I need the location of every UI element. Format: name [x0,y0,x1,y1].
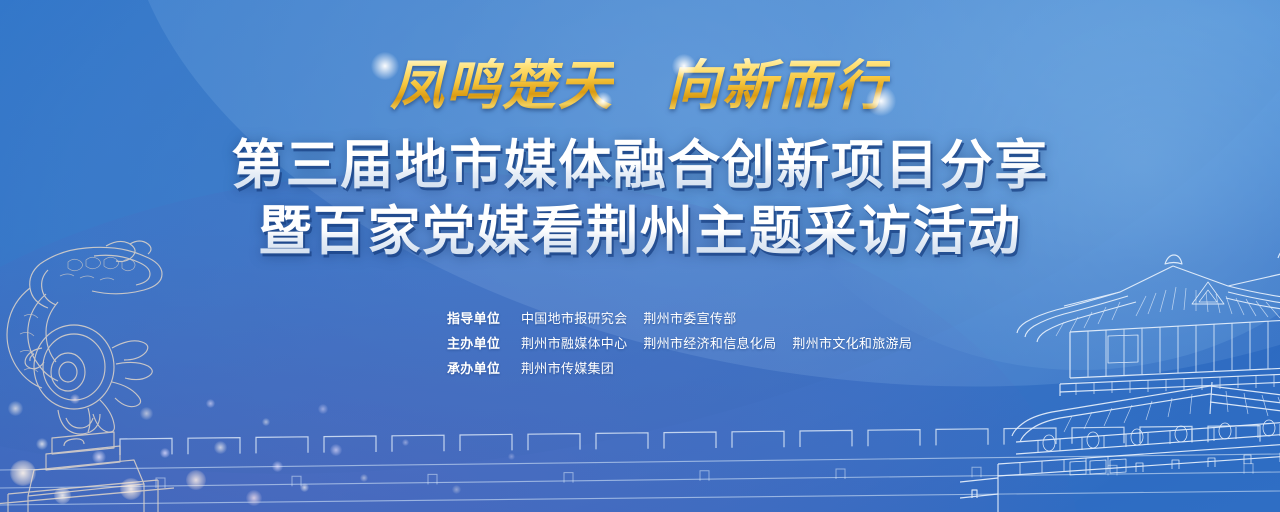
slogan-part-2: 向新而行 [666,58,890,112]
page-title: 第三届地市媒体融合创新项目分享 暨百家党媒看荆州主题采访活动 [0,136,1280,262]
organizer-item: 荆州市融媒体中心 [521,331,627,356]
organizer-label: 主办单位 [447,331,509,356]
organizer-item: 荆州市委宣传部 [643,306,736,331]
slogan: 凤鸣楚天向新而行 [0,58,1280,112]
event-banner: 凤鸣楚天向新而行 第三届地市媒体融合创新项目分享 暨百家党媒看荆州主题采访活动 … [0,0,1280,512]
slogan-part-1: 凤鸣楚天 [390,58,614,112]
organizer-list: 指导单位中国地市报研究会荆州市委宣传部 主办单位荆州市融媒体中心荆州市经济和信息… [447,306,912,381]
organizer-item: 荆州市经济和信息化局 [643,331,776,356]
title-line-2: 暨百家党媒看荆州主题采访活动 [0,202,1280,262]
organizer-label: 指导单位 [447,306,509,331]
organizer-row: 主办单位荆州市融媒体中心荆州市经济和信息化局荆州市文化和旅游局 [447,331,912,356]
organizer-row: 指导单位中国地市报研究会荆州市委宣传部 [447,306,912,331]
organizer-label: 承办单位 [447,356,509,381]
organizer-item: 中国地市报研究会 [521,306,627,331]
banner-content: 凤鸣楚天向新而行 第三届地市媒体融合创新项目分享 暨百家党媒看荆州主题采访活动 … [0,0,1280,512]
title-line-1: 第三届地市媒体融合创新项目分享 [0,136,1280,196]
organizer-item: 荆州市传媒集团 [521,356,614,381]
organizer-item: 荆州市文化和旅游局 [792,331,912,356]
organizer-row: 承办单位荆州市传媒集团 [447,356,912,381]
